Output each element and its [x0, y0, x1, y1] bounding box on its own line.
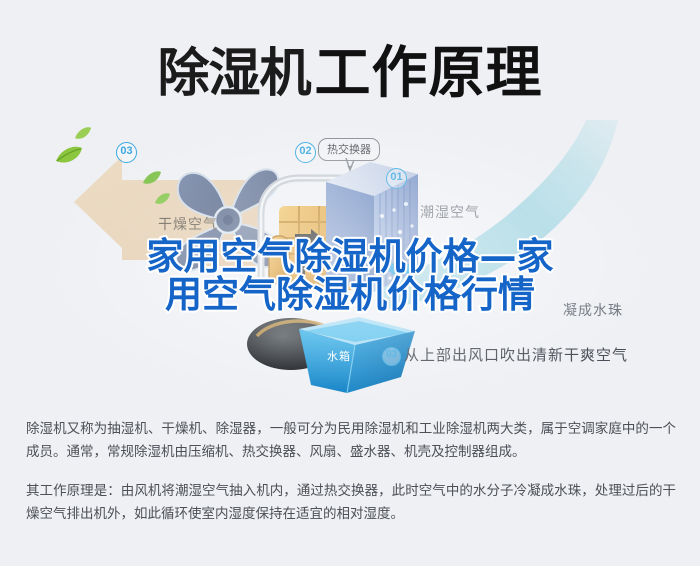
label-step-3-caption: 从上部出风口吹出清新干爽空气 [404, 344, 628, 365]
dehumidifier-diagram: 热交换器 03 02 01 03 干燥空气 潮湿空气 凝成水珠 水箱 从上部出风… [0, 120, 700, 405]
label-humid-air: 潮湿空气 [420, 202, 480, 222]
water-tank-icon [295, 315, 420, 400]
badge-step-1: 01 [386, 168, 407, 189]
page-title-prefix: 除湿机 [157, 44, 310, 104]
body-paragraph-1: 除湿机又称为抽湿机、干燥机、除湿器，一般可分为民用除湿机和工业除湿机两大类，属于… [26, 418, 676, 464]
heat-exchanger-icon [320, 152, 440, 312]
leaf-icon [142, 170, 162, 192]
badge-step-3-bottom: 03 [382, 347, 401, 366]
article-body: 除湿机又称为抽湿机、干燥机、除湿器，一般可分为民用除湿机和工业除湿机两大类，属于… [26, 418, 676, 542]
body-paragraph-2: 其工作原理是：由风机将潮湿空气抽入机内，通过热交换器，此时空气中的水分子冷凝成水… [26, 480, 676, 526]
callout-tail-icon [345, 158, 355, 174]
page-root: 除湿机工作原理 [0, 0, 700, 566]
label-dry-air: 干燥空气 [158, 214, 218, 234]
page-title: 除湿机工作原理 [0, 28, 700, 109]
leaf-icon [74, 126, 92, 147]
label-condensation: 凝成水珠 [563, 300, 623, 320]
badge-step-2: 02 [295, 142, 316, 163]
leaf-icon [54, 145, 84, 172]
page-title-suffix: 工作原理 [315, 41, 543, 106]
leaf-icon [154, 192, 171, 212]
badge-step-3-top: 03 [116, 142, 137, 163]
label-water-tank: 水箱 [327, 348, 351, 364]
